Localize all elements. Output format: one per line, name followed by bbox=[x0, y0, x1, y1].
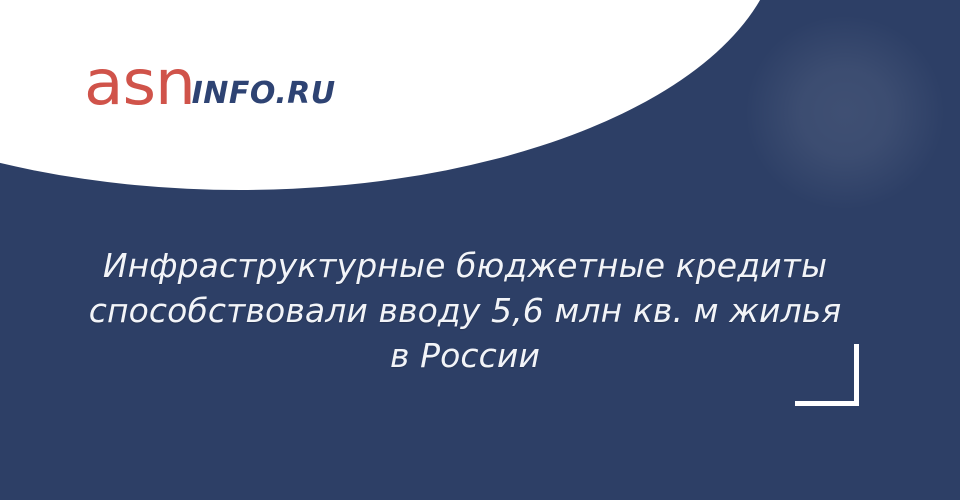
asninfo-logo[interactable]: asn INFO.RU bbox=[84, 52, 336, 114]
logo-primary-text: asn bbox=[84, 52, 195, 114]
logo-secondary-text: INFO.RU bbox=[192, 79, 336, 109]
headline-line-2: способствовали вводу 5,6 млн кв. м жилья bbox=[70, 288, 860, 333]
news-card: asn INFO.RU Инфраструктурные бюджетные к… bbox=[0, 0, 960, 500]
headline-line-1: Инфраструктурные бюджетные кредиты bbox=[70, 243, 860, 288]
radial-glow-circle-icon bbox=[745, 15, 945, 210]
corner-bracket-horizontal-bar bbox=[795, 401, 859, 406]
headline: Инфраструктурные бюджетные кредиты спосо… bbox=[70, 243, 860, 378]
headline-line-3: в России bbox=[70, 333, 860, 378]
